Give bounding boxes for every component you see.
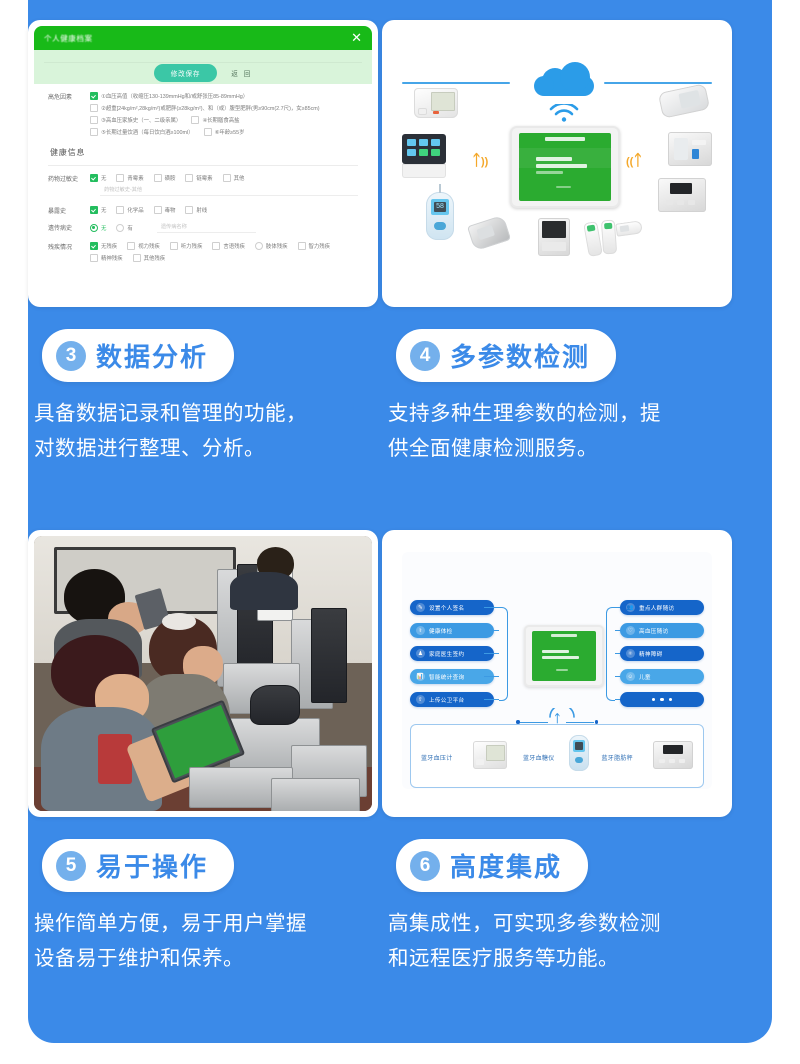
fat-scale-icon	[653, 741, 693, 769]
checkbox-item[interactable]: 磺胺	[154, 174, 176, 182]
tag-left-2[interactable]: ♟家庭医生签约	[410, 646, 494, 661]
checkbox-box[interactable]	[223, 174, 231, 182]
checkbox-label: 言语残疾	[223, 242, 245, 250]
hereditary-name-input[interactable]: 遗传病名称	[157, 223, 256, 233]
checkbox-item[interactable]: 肢体残疾	[255, 242, 288, 250]
tag-label: 高血压随访	[639, 627, 668, 635]
desc-line: 具备数据记录和管理的功能，	[34, 396, 364, 431]
bt-wave-icon	[548, 708, 576, 720]
left-bracket	[499, 607, 508, 701]
checkbox-label: 磺胺	[165, 174, 176, 182]
card-4: ᛏ)) ((ᛏ	[382, 20, 732, 467]
close-icon[interactable]: ✕	[351, 31, 362, 44]
card-6-description: 高集成性，可实现多参数检测 和远程医疗服务等功能。	[388, 906, 718, 977]
checkbox-box[interactable]	[90, 242, 98, 250]
bluetooth-icon: ᛏ))	[472, 152, 488, 169]
checkbox-box[interactable]	[204, 128, 212, 136]
upload-icon: ⇧	[416, 695, 425, 704]
checkbox-box[interactable]	[212, 242, 220, 250]
cloud-icon	[534, 62, 594, 98]
bottom-device-label: 蓝牙血压计	[421, 753, 453, 762]
connector-line-right	[604, 82, 712, 84]
checkbox-box[interactable]	[116, 206, 124, 214]
radio-circle[interactable]	[90, 224, 98, 232]
card-number-badge: 4	[410, 341, 440, 371]
card-number-badge: 5	[56, 851, 86, 881]
monitor-base	[402, 164, 446, 178]
card-title: 易于操作	[96, 847, 208, 884]
checkbox-box[interactable]	[185, 174, 193, 182]
card-5-description: 操作简单方便，易于用户掌握 设备易于维护和保养。	[34, 906, 364, 977]
blood-pressure-monitor	[414, 88, 458, 118]
drug-allergy-row: 药物过敏史 无 青霉素 磺胺 链霉素 其他 药物过敏史-其他	[48, 174, 358, 201]
checkbox-box[interactable]	[170, 242, 178, 250]
checkbox-label: 链霉素	[196, 174, 212, 182]
checkbox-label: 无残疾	[101, 242, 117, 250]
form-window-title: 个人健康档案	[44, 33, 93, 44]
checkbox-label: 肢体残疾	[266, 242, 288, 250]
connector-dot	[516, 720, 520, 724]
checkbox-box[interactable]	[127, 242, 135, 250]
checkbox-box[interactable]	[90, 128, 98, 136]
tag-right-1[interactable]: ♡高血压随访	[620, 623, 704, 638]
checkbox-item[interactable]: 听力残疾	[170, 242, 203, 250]
checkbox-item[interactable]: 链霉素	[185, 174, 212, 182]
radio-label: 无	[101, 224, 106, 232]
checkbox-box[interactable]	[133, 254, 141, 262]
risk-factor-label: 高危因素	[48, 92, 90, 101]
checkbox-box[interactable]	[255, 242, 263, 250]
body-fat-scale	[658, 178, 706, 212]
urine-analyzer	[668, 132, 712, 166]
tag-left-0[interactable]: ✎设置个人签名	[410, 600, 494, 615]
checkbox-label: 无	[101, 174, 106, 182]
radio-label: 有	[127, 224, 132, 232]
checkbox-item[interactable]: 无	[90, 174, 106, 182]
checkbox-box[interactable]	[90, 254, 98, 262]
form-toolbar: 修改保存 返 回	[34, 50, 372, 84]
checkbox-item[interactable]: ②超重[24kg/m²,28kg/m²)或肥胖(≥28kg/m²)、和（或）腹型…	[90, 104, 320, 112]
connector-line-left	[402, 82, 510, 84]
card-number-badge: 3	[56, 341, 86, 371]
right-bracket	[606, 607, 615, 701]
tag-label: 家庭医生签约	[429, 650, 464, 658]
checkbox-label: 其他残疾	[144, 254, 166, 262]
page-root: 个人健康档案 ✕ 修改保存 返 回 高危因素	[0, 0, 800, 1064]
card-6-heading: 6 高度集成	[396, 839, 588, 892]
back-button[interactable]: 返 回	[231, 68, 252, 78]
ecg-device	[658, 83, 710, 118]
tag-label: 重点人群随访	[639, 604, 674, 612]
checkbox-label: ⑥年龄≥55岁	[215, 128, 245, 136]
desc-line: 供全面健康检测服务。	[388, 431, 718, 466]
bluetooth-icon: ((ᛏ	[626, 152, 642, 169]
checkbox-item[interactable]: 化学品	[116, 206, 143, 214]
disability-row: 残疾情况 无残疾 视力残疾 听力残疾 言语残疾 肢体残疾 智力残疾	[48, 242, 358, 266]
bottom-device-label: 蓝牙血糖仪	[523, 753, 555, 762]
brain-icon: ⚛	[626, 649, 635, 658]
card-5: 5 易于操作 操作简单方便，易于用户掌握 设备易于维护和保养。	[28, 530, 378, 977]
desc-line: 和远程医疗服务等功能。	[388, 941, 718, 976]
radio-circle[interactable]	[116, 224, 124, 232]
checkbox-item[interactable]: 射线	[185, 206, 207, 214]
multi-parameter-monitor	[402, 134, 446, 164]
tag-label: 设置个人签名	[429, 604, 464, 612]
checkbox-label: ①血压高值（收缩压130-139mmHg和/或舒张压85-89mmHg）	[101, 92, 248, 100]
tag-right-3[interactable]: ☺儿童	[620, 669, 704, 684]
stethoscope-icon: ⚕	[416, 626, 425, 635]
checkbox-item[interactable]: 青霉素	[116, 174, 143, 182]
connector-stub	[484, 630, 499, 631]
checkbox-label: 射线	[196, 206, 207, 214]
tag-right-4[interactable]	[620, 692, 704, 707]
checkbox-box[interactable]	[185, 206, 193, 214]
tag-label: 健康体检	[429, 627, 453, 635]
connector-stub	[484, 607, 499, 608]
checkbox-item[interactable]: 精神残疾	[90, 254, 123, 262]
checkbox-box[interactable]	[154, 174, 162, 182]
device-ecosystem-diagram: ᛏ)) ((ᛏ	[388, 26, 726, 301]
group-icon: 👥	[626, 603, 635, 612]
card-6: ✎设置个人签名 ⚕健康体检 ♟家庭医生签约 📊智能统计查询 ⇧上传公卫平台	[382, 530, 732, 977]
card-6-media: ✎设置个人签名 ⚕健康体检 ♟家庭医生签约 📊智能统计查询 ⇧上传公卫平台	[382, 530, 732, 817]
analyzer-machine	[538, 218, 570, 256]
tag-right-2[interactable]: ⚛精神障碍	[620, 646, 704, 661]
tag-right-0[interactable]: 👥重点人群随访	[620, 600, 704, 615]
checkbox-box[interactable]	[90, 116, 98, 124]
divider	[48, 165, 358, 166]
more-icon	[652, 698, 673, 702]
checkbox-item[interactable]: ⑤长期过量饮酒（每日饮白酒≥100ml）	[90, 128, 194, 136]
checkbox-item[interactable]: 视力残疾	[127, 242, 160, 250]
card-3-heading: 3 数据分析	[42, 329, 234, 382]
tag-left-4[interactable]: ⇧上传公卫平台	[410, 692, 494, 707]
connector-stub	[484, 676, 499, 677]
tag-label: 儿童	[639, 673, 651, 681]
checkbox-item[interactable]: 无残疾	[90, 242, 117, 250]
checkbox-box[interactable]	[116, 174, 124, 182]
checkbox-item[interactable]: ①血压高值（收缩压130-139mmHg和/或舒张压85-89mmHg）	[90, 92, 248, 100]
checkbox-label: ⑤长期过量饮酒（每日饮白酒≥100ml）	[101, 128, 194, 136]
form-body: 高危因素 ①血压高值（收缩压130-139mmHg和/或舒张压85-89mmHg…	[34, 84, 372, 301]
card-5-heading: 5 易于操作	[42, 839, 234, 892]
desc-line: 操作简单方便，易于用户掌握	[34, 906, 364, 941]
heart-icon: ♡	[626, 626, 635, 635]
checkbox-box[interactable]	[90, 92, 98, 100]
radio-item[interactable]: 有	[116, 224, 132, 232]
training-photo	[34, 536, 372, 811]
checkbox-label: 无	[101, 206, 106, 214]
checkbox-box[interactable]	[90, 174, 98, 182]
checkbox-label: ②超重[24kg/m²,28kg/m²)或肥胖(≥28kg/m²)、和（或）腹型…	[101, 104, 320, 112]
tag-left-1[interactable]: ⚕健康体检	[410, 623, 494, 638]
card-5-media	[28, 530, 378, 817]
checkbox-label: 智力残疾	[309, 242, 331, 250]
risk-factor-row: 高危因素 ①血压高值（收缩压130-139mmHg和/或舒张压85-89mmHg…	[48, 92, 358, 140]
checkbox-label: 听力残疾	[181, 242, 203, 250]
connector-stub	[484, 699, 499, 700]
hereditary-row: 遗传病史 无 有 遗传病名称	[48, 223, 358, 237]
exposure-row: 暴露史 无 化学品 毒物 射线	[48, 206, 358, 218]
form-screenshot: 个人健康档案 ✕ 修改保存 返 回 高危因素	[34, 26, 372, 301]
card-title: 多参数检测	[450, 337, 590, 374]
bottom-devices-box: 蓝牙血压计 蓝牙血糖仪 蓝牙脂肪秤	[410, 724, 704, 788]
bt-link-line	[566, 722, 594, 723]
card-3-description: 具备数据记录和管理的功能， 对数据进行整理、分析。	[34, 396, 364, 467]
checkbox-label: 毒物	[165, 206, 176, 214]
infrared-thermometer	[615, 220, 643, 236]
card-4-media: ᛏ)) ((ᛏ	[382, 20, 732, 307]
card-number-badge: 6	[410, 851, 440, 881]
pulse-oximeter	[467, 215, 511, 251]
card-3: 个人健康档案 ✕ 修改保存 返 回 高危因素	[28, 20, 378, 467]
glucose-meter-icon	[569, 735, 589, 771]
tag-label: 上传公卫平台	[429, 696, 464, 704]
child-icon: ☺	[626, 672, 635, 681]
card-title: 高度集成	[450, 847, 562, 884]
checkbox-item[interactable]: 毒物	[154, 206, 176, 214]
desc-line: 对数据进行整理、分析。	[34, 431, 364, 466]
tag-label: 智能统计查询	[429, 673, 464, 681]
center-tablet	[524, 625, 604, 687]
drug-allergy-other-input[interactable]: 药物过敏史-其他	[100, 186, 358, 196]
desc-line: 支持多种生理参数的检测，提	[388, 396, 718, 431]
checkbox-item[interactable]: 其他	[223, 174, 245, 182]
row-label: 残疾情况	[48, 242, 90, 251]
signature-icon: ✎	[416, 603, 425, 612]
checkbox-item[interactable]: ③高血压家族史（一、二级亲属）	[90, 116, 181, 124]
bt-link-line	[520, 722, 548, 723]
checkbox-item[interactable]: 智力残疾	[298, 242, 331, 250]
infrared-thermometer	[583, 221, 603, 257]
checkbox-label: 化学品	[127, 206, 143, 214]
desc-line: 设备易于维护和保养。	[34, 941, 364, 976]
checkbox-label: 精神残疾	[101, 254, 123, 262]
section-title-health-info: 健康信息	[50, 147, 358, 158]
tag-left-3[interactable]: 📊智能统计查询	[410, 669, 494, 684]
tag-label: 精神障碍	[639, 650, 663, 658]
bp-monitor-icon	[473, 741, 507, 769]
checkbox-label: 视力残疾	[138, 242, 160, 250]
save-button[interactable]: 修改保存	[154, 64, 218, 82]
checkbox-item[interactable]: 无	[90, 206, 106, 214]
blood-glucose-meter: 58	[426, 192, 454, 240]
checkbox-box[interactable]	[154, 206, 162, 214]
card-title: 数据分析	[96, 337, 208, 374]
wifi-icon	[548, 104, 580, 122]
checkbox-box[interactable]	[298, 242, 306, 250]
card-3-media: 个人健康档案 ✕ 修改保存 返 回 高危因素	[28, 20, 378, 307]
checkbox-item[interactable]: 其他残疾	[133, 254, 166, 262]
card-4-description: 支持多种生理参数的检测，提 供全面健康检测服务。	[388, 396, 718, 467]
checkbox-item[interactable]: ⑥年龄≥55岁	[204, 128, 245, 136]
doctor-icon: ♟	[416, 649, 425, 658]
radio-item[interactable]: 无	[90, 224, 106, 232]
checkbox-label: 青霉素	[127, 174, 143, 182]
row-label: 药物过敏史	[48, 174, 90, 183]
row-label: 遗传病史	[48, 223, 90, 232]
checkbox-label: ③高血压家族史（一、二级亲属）	[101, 116, 181, 124]
center-tablet	[510, 126, 620, 208]
checkbox-label: ④长期膳食高盐	[202, 116, 239, 124]
row-label: 暴露史	[48, 206, 90, 215]
diagram-panel: ✎设置个人签名 ⚕健康体检 ♟家庭医生签约 📊智能统计查询 ⇧上传公卫平台	[402, 552, 712, 789]
checkbox-item[interactable]: ④长期膳食高盐	[191, 116, 239, 124]
checkbox-box[interactable]	[191, 116, 199, 124]
checkbox-box[interactable]	[90, 104, 98, 112]
connector-stub	[484, 653, 499, 654]
checkbox-item[interactable]: 言语残疾	[212, 242, 245, 250]
connector-dot	[595, 720, 599, 724]
chart-icon: 📊	[416, 672, 425, 681]
desc-line: 高集成性，可实现多参数检测	[388, 906, 718, 941]
integration-diagram: ✎设置个人签名 ⚕健康体检 ♟家庭医生签约 📊智能统计查询 ⇧上传公卫平台	[388, 536, 726, 811]
checkbox-box[interactable]	[90, 206, 98, 214]
form-titlebar: 个人健康档案 ✕	[34, 26, 372, 50]
card-4-heading: 4 多参数检测	[396, 329, 616, 382]
bottom-device-label: 蓝牙脂肪秤	[601, 753, 633, 762]
checkbox-label: 其他	[234, 174, 245, 182]
